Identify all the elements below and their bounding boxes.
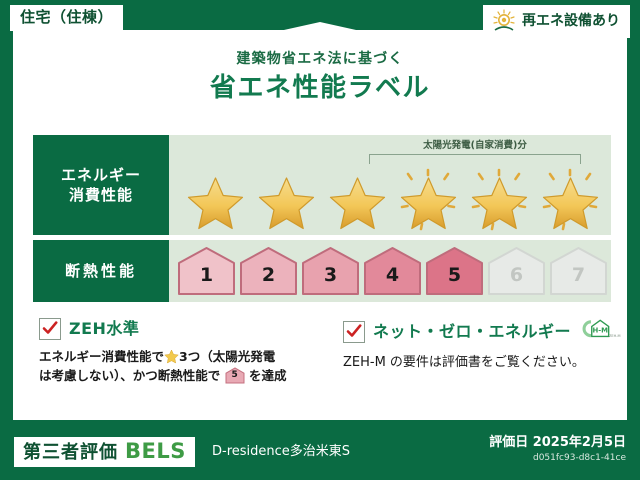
pv-bracket-label: 太陽光発電(自家消費)分: [369, 141, 581, 151]
insulation-grade-inactive: 7: [549, 246, 608, 296]
zeh-standard-description: エネルギー消費性能で 3つ（太陽光発電 は考慮しない）、かつ断熱性能で 5 を達…: [39, 347, 329, 386]
renewable-equipment-label: 再エネ設備あり: [522, 14, 620, 28]
evaluation-date: 評価日 2025年2月5日: [489, 436, 626, 449]
insulation-grade-active: 2: [239, 246, 298, 296]
insulation-performance-label-box: 断熱性能: [33, 240, 169, 302]
zeh-desc-star-count: 3つ（太陽光発電: [179, 349, 275, 364]
star-pv: [394, 165, 463, 231]
star-rating: [181, 165, 605, 231]
zeh-desc-part3: を達成: [249, 368, 287, 383]
zeh-desc-part1: エネルギー消費性能で: [39, 349, 164, 364]
zeh-desc-part2: は考慮しない）、かつ断熱性能で: [39, 368, 220, 383]
energy-performance-label: 住宅（住棟） 再エネ設備あり 建築物省エネ: [0, 0, 640, 480]
insulation-performance-row: 断熱性能 1234567: [33, 240, 611, 302]
net-zero-energy-title: ネット・ゼロ・エネルギー: [373, 324, 571, 340]
insulation-grades-area: 1234567: [169, 240, 611, 302]
star-filled: [181, 165, 250, 231]
renewable-equipment-badge: 再エネ設備あり: [483, 5, 630, 38]
pv-bracket-line: [369, 154, 581, 164]
bels-badge-en: BELS: [125, 441, 186, 462]
insulation-grade-active: 1: [177, 246, 236, 296]
title-subtitle: 建築物省エネ法に基づく: [13, 52, 627, 66]
zeh-standard-block: ZEH水準 エネルギー消費性能で 3つ（太陽光発電 は考慮しない）、かつ断熱性能…: [39, 318, 329, 386]
insulation-grade-active: 3: [301, 246, 360, 296]
net-zero-energy-header: ネット・ゼロ・エネルギー H-M ZEH-M: [343, 318, 621, 346]
insulation-grade-inactive: 6: [487, 246, 546, 296]
net-zero-energy-checkbox[interactable]: [343, 321, 365, 343]
star-filled: [252, 165, 321, 231]
inline-star-icon: [164, 349, 179, 364]
pv-bracket: 太陽光発電(自家消費)分: [369, 141, 581, 164]
label-card: 建築物省エネ法に基づく 省エネ性能ラベル エネルギー 消費性能 太陽光発電(自家…: [13, 30, 627, 420]
evaluation-info: 評価日 2025年2月5日 d051fc93-d8c1-41ce: [489, 436, 626, 463]
inline-grade-badge-value: 5: [225, 371, 245, 380]
zeh-m-logo-icon: H-M ZEH-M: [581, 318, 621, 346]
house-type-badge: 住宅（住棟）: [10, 5, 123, 31]
solar-sun-icon: [491, 9, 517, 33]
title-block: 建築物省エネ法に基づく 省エネ性能ラベル: [13, 52, 627, 101]
net-zero-energy-description: ZEH-M の要件は評価書をご覧ください。: [343, 353, 621, 373]
bels-badge: 第三者評価 BELS: [14, 437, 195, 467]
bels-badge-jp: 第三者評価: [23, 444, 118, 462]
title-main: 省エネ性能ラベル: [13, 75, 627, 101]
zeh-standard-header: ZEH水準: [39, 318, 329, 340]
svg-text:ZEH-M: ZEH-M: [609, 334, 621, 338]
evaluation-id: d051fc93-d8c1-41ce: [489, 454, 626, 463]
energy-performance-stars-area: 太陽光発電(自家消費)分: [169, 135, 611, 235]
energy-label-line1: エネルギー: [61, 165, 141, 185]
energy-performance-label-box: エネルギー 消費性能: [33, 135, 169, 235]
svg-text:H-M: H-M: [592, 327, 608, 335]
star-filled: [323, 165, 392, 231]
footer-band: 第三者評価 BELS D-residence多治米東S 評価日 2025年2月5…: [0, 428, 640, 480]
net-zero-energy-block: ネット・ゼロ・エネルギー H-M ZEH-M ZEH-M の要件は評価書をご覧く…: [343, 318, 621, 373]
insulation-grade-active: 5: [425, 246, 484, 296]
insulation-label: 断熱性能: [65, 261, 137, 281]
zeh-standard-title: ZEH水準: [69, 321, 139, 337]
star-pv: [536, 165, 605, 231]
energy-label-line2: 消費性能: [69, 185, 133, 205]
zeh-standard-checkbox[interactable]: [39, 318, 61, 340]
building-name: D-residence多治米東S: [212, 445, 350, 458]
house-type-badge-label: 住宅（住棟）: [20, 8, 113, 26]
insulation-grade-scale: 1234567: [177, 246, 608, 296]
inline-grade-badge: 5: [225, 367, 245, 384]
insulation-grade-active: 4: [363, 246, 422, 296]
star-pv: [465, 165, 534, 231]
energy-performance-row: エネルギー 消費性能 太陽光発電(自家消費)分: [33, 135, 611, 235]
